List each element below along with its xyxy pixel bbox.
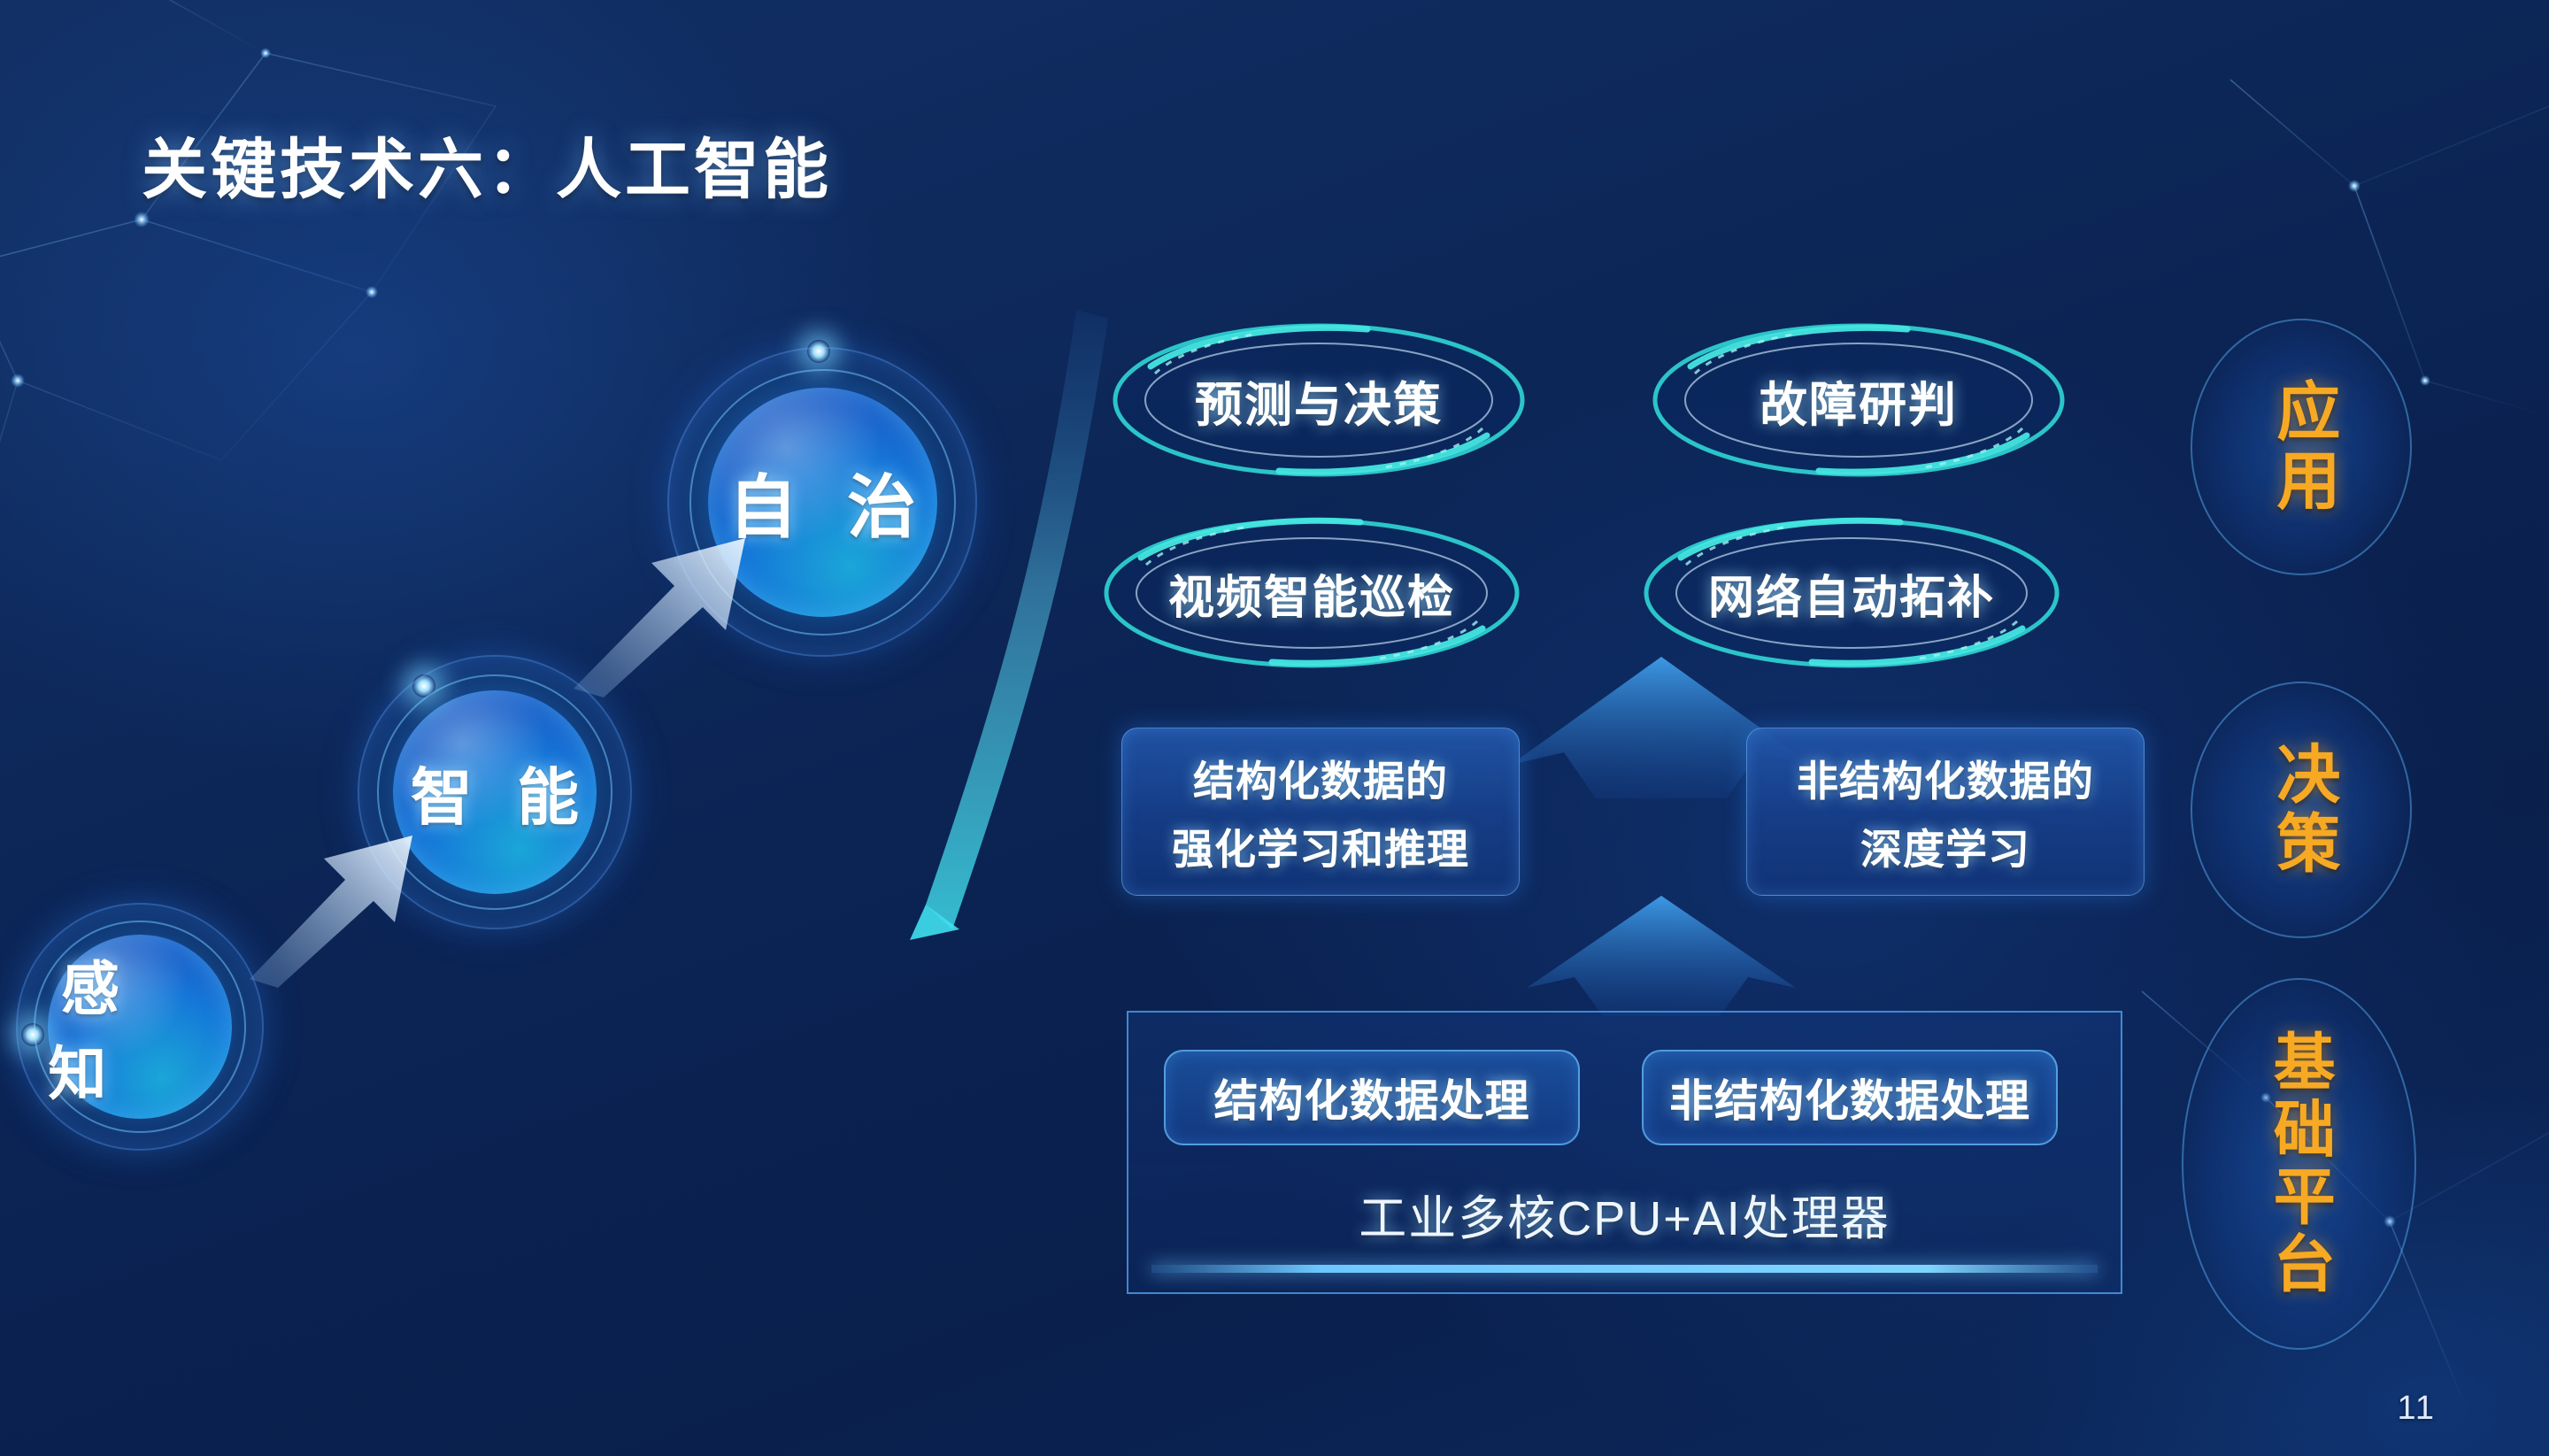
layer-label-text: 应用 — [2267, 378, 2336, 516]
arrow-platform-to-decision-icon — [1511, 896, 1812, 1016]
decision-item-unstructured-dl[interactable]: 非结构化数据的 深度学习 — [1746, 728, 2145, 896]
application-item-video-inspection[interactable]: 视频智能巡检 — [1095, 505, 1529, 682]
platform-chip-label: 非结构化数据处理 — [1669, 1066, 2030, 1129]
platform-chip-unstructured[interactable]: 非结构化数据处理 — [1642, 1050, 2058, 1145]
layer-label-application: 应用 — [2191, 319, 2412, 575]
application-item-prediction-decision[interactable]: 预测与决策 — [1102, 312, 1536, 489]
application-item-network-auto-topology[interactable]: 网络自动拓补 — [1635, 505, 2068, 682]
decision-item-structured-rl[interactable]: 结构化数据的 强化学习和推理 — [1121, 728, 1520, 896]
platform-container: 结构化数据处理 非结构化数据处理 工业多核CPU+AI处理器 — [1127, 1011, 2122, 1294]
slide-canvas: 关键技术六：人工智能 感 知 智 能 自 治 — [0, 0, 2549, 1456]
layer-label-text: 决策 — [2267, 741, 2336, 879]
decision-line-2: 深度学习 — [1860, 815, 2030, 876]
sparkle-icon — [807, 340, 830, 363]
decision-line-1: 结构化数据的 — [1193, 747, 1448, 808]
page-title: 关键技术六：人工智能 — [142, 117, 832, 212]
application-label: 预测与决策 — [1195, 366, 1443, 435]
sparkle-icon — [21, 1023, 44, 1046]
stage-orb-perception[interactable]: 感 知 — [16, 903, 264, 1151]
platform-hardware-label: 工业多核CPU+AI处理器 — [1128, 1179, 2121, 1249]
layer-label-platform: 基础平台 — [2182, 978, 2416, 1350]
arrow-intelligence-to-autonomy-icon — [563, 524, 766, 701]
arrow-perception-to-intelligence-icon — [239, 823, 434, 991]
orb-sphere: 感 知 — [48, 935, 231, 1118]
page-number: 11 — [2398, 1390, 2436, 1428]
application-label: 视频智能巡检 — [1168, 560, 1455, 627]
stage-label-perception: 感 知 — [48, 942, 231, 1112]
ai-architecture-stack: 预测与决策 故障研判 视频智能巡检 — [1111, 312, 2155, 1294]
decision-line-2: 强化学习和推理 — [1172, 815, 1469, 876]
application-item-fault-diagnosis[interactable]: 故障研判 — [1642, 312, 2075, 489]
platform-chip-label: 结构化数据处理 — [1214, 1066, 1530, 1129]
platform-chip-structured[interactable]: 结构化数据处理 — [1164, 1050, 1580, 1145]
layer-label-text: 基础平台 — [2266, 1029, 2333, 1298]
platform-base-bar — [1151, 1265, 2098, 1273]
sparkle-icon — [412, 674, 435, 697]
layer-label-decision: 决策 — [2191, 682, 2412, 938]
application-label: 网络自动拓补 — [1708, 560, 1995, 627]
decision-line-1: 非结构化数据的 — [1797, 747, 2094, 808]
application-label: 故障研判 — [1760, 366, 1958, 435]
